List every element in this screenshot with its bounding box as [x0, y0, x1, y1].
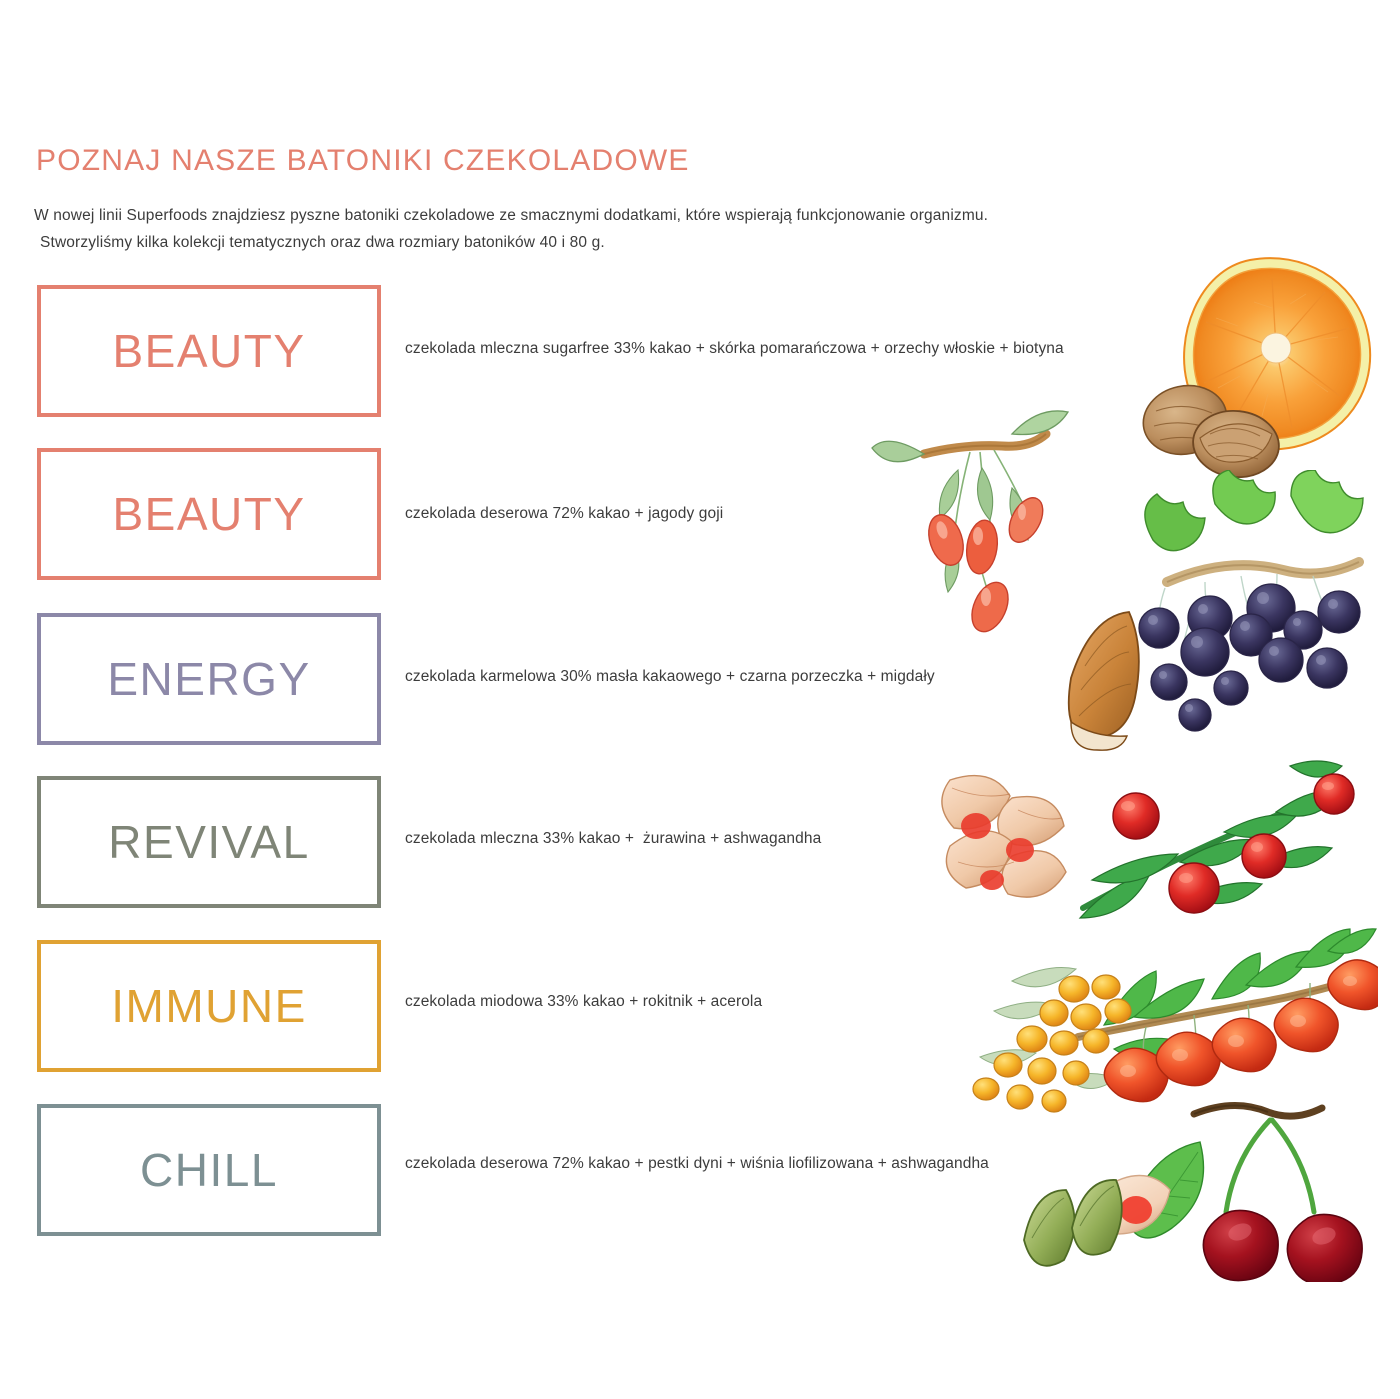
category-box-chill[interactable]: CHILL: [37, 1104, 381, 1236]
category-label: IMMUNE: [111, 983, 307, 1029]
category-box-beauty-2[interactable]: BEAUTY: [37, 448, 381, 580]
category-box-immune[interactable]: IMMUNE: [37, 940, 381, 1072]
product-description-5: czekolada miodowa 33% kakao + rokitnik +…: [405, 993, 762, 1011]
product-description-1: czekolada mleczna sugarfree 33% kakao + …: [405, 340, 1064, 358]
category-label: BEAUTY: [112, 328, 305, 374]
category-box-energy[interactable]: ENERGY: [37, 613, 381, 745]
product-description-2: czekolada deserowa 72% kakao + jagody go…: [405, 505, 723, 523]
product-description-4: czekolada mleczna 33% kakao + żurawina +…: [405, 830, 821, 848]
category-label: REVIVAL: [108, 819, 309, 865]
category-label: BEAUTY: [112, 491, 305, 537]
category-label: CHILL: [140, 1147, 278, 1193]
product-description-6: czekolada deserowa 72% kakao + pestki dy…: [405, 1155, 989, 1173]
product-rows: BEAUTY czekolada mleczna sugarfree 33% k…: [0, 0, 1400, 1399]
product-description-3: czekolada karmelowa 30% masła kakaowego …: [405, 668, 935, 686]
category-box-revival[interactable]: REVIVAL: [37, 776, 381, 908]
category-label: ENERGY: [107, 656, 310, 702]
category-box-beauty-1[interactable]: BEAUTY: [37, 285, 381, 417]
